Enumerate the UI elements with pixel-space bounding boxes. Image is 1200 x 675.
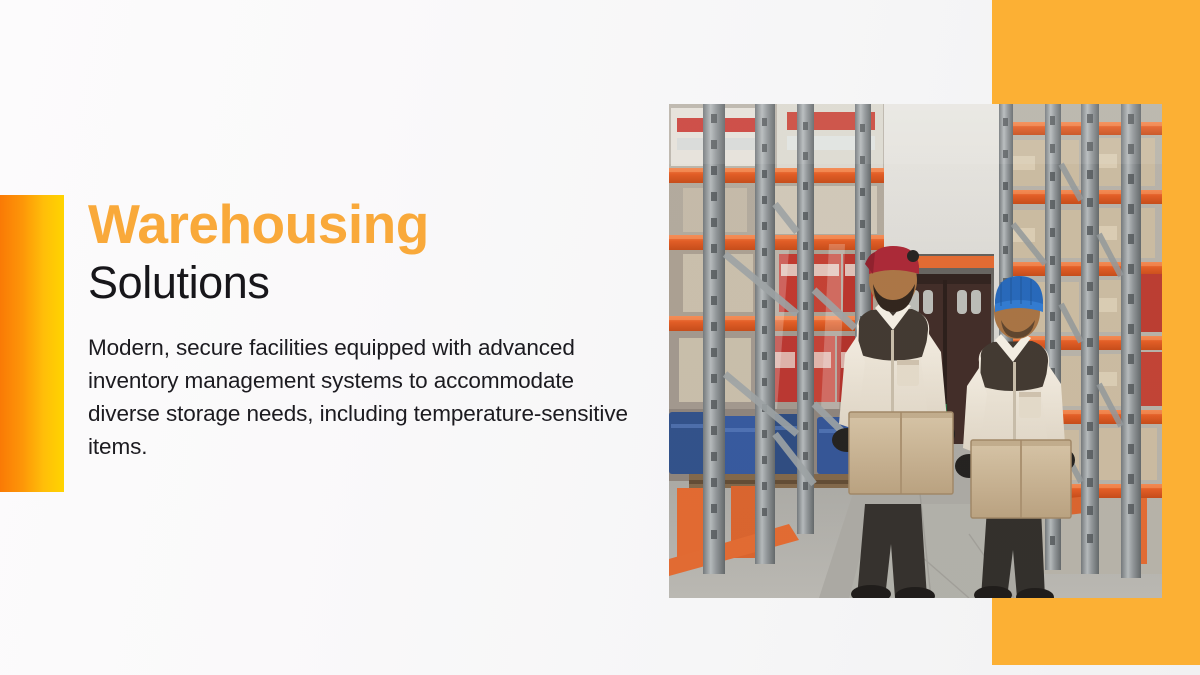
body-paragraph: Modern, secure facilities equipped with … [88, 331, 648, 463]
left-accent-bar [0, 195, 64, 492]
warehouse-photo [669, 104, 1162, 598]
warehouse-photo-graphic [669, 104, 1162, 598]
text-column: Warehousing Solutions Modern, secure fac… [88, 196, 658, 463]
page-title-primary: Warehousing [88, 196, 658, 252]
page-title-secondary: Solutions [88, 256, 658, 309]
